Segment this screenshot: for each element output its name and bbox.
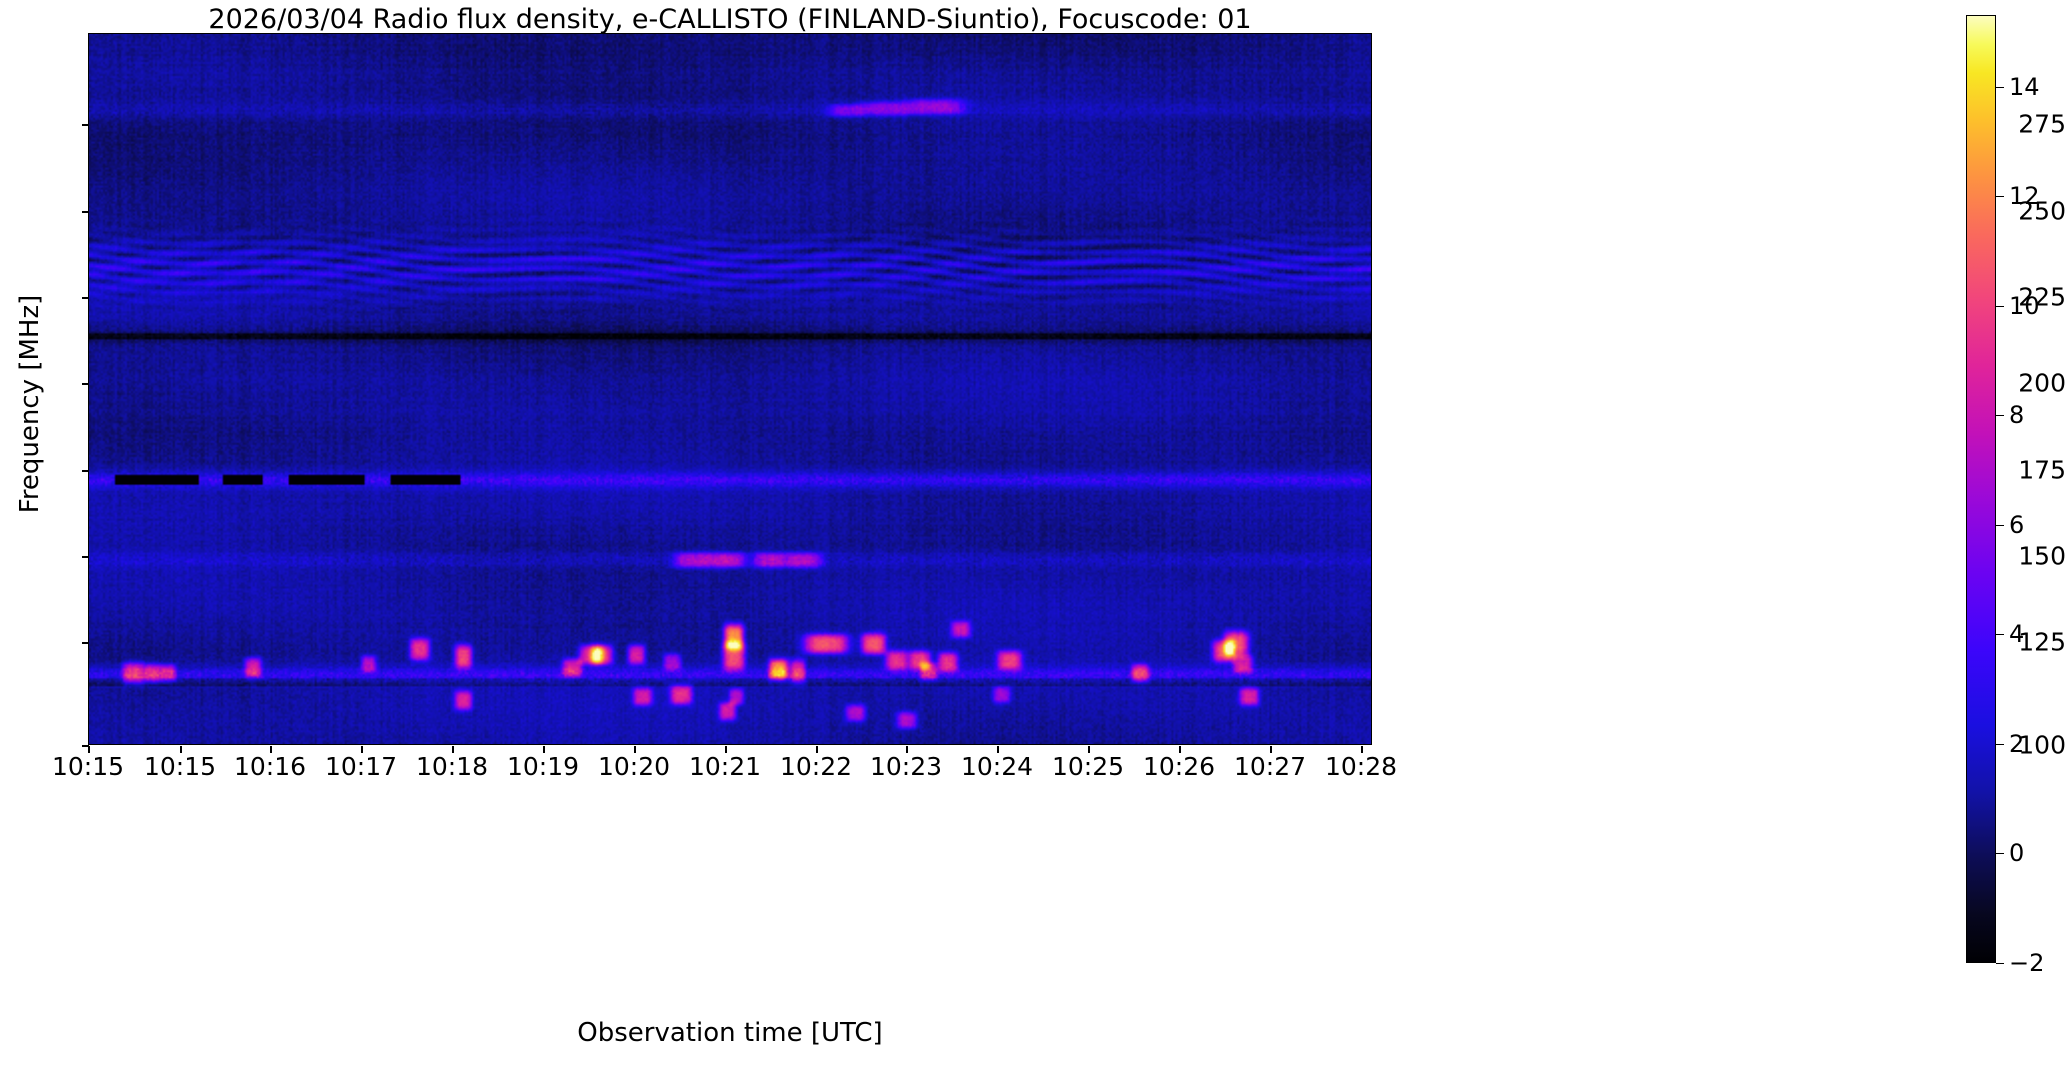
- x-axis-label: Observation time [UTC]: [88, 1018, 1372, 1048]
- spectrogram-image: [89, 34, 1371, 744]
- colorbar-tick-label: 4: [2009, 620, 2024, 648]
- y-tick-label: 175: [1994, 456, 2066, 485]
- colorbar-tick-label: 14: [2009, 73, 2040, 101]
- x-tick-mark: [180, 746, 182, 753]
- y-tick-mark: [82, 297, 89, 299]
- colorbar-tick-label: 12: [2009, 182, 2040, 210]
- x-tick-mark: [725, 746, 727, 753]
- x-tick-mark: [543, 746, 545, 753]
- x-tick-label: 10:16: [234, 752, 306, 781]
- y-tick-mark: [82, 642, 89, 644]
- y-tick-label: 125: [1994, 628, 2066, 657]
- y-tick-label: 275: [1994, 110, 2066, 139]
- x-tick-label: 10:15: [144, 752, 216, 781]
- colorbar-tick-mark: [1996, 306, 2004, 307]
- y-tick-label: 100: [1994, 731, 2066, 760]
- x-tick-label: 10:18: [416, 752, 488, 781]
- colorbar-tick-mark: [1996, 525, 2004, 526]
- y-tick-mark: [82, 211, 89, 213]
- x-tick-mark: [634, 746, 636, 753]
- colorbar-tick-mark: [1996, 634, 2004, 635]
- x-tick-label: 10:21: [689, 752, 761, 781]
- y-tick-mark: [82, 383, 89, 385]
- x-tick-mark: [906, 746, 908, 753]
- x-tick-mark: [1088, 746, 1090, 753]
- x-tick-label: 10:25: [1052, 752, 1124, 781]
- x-tick-mark: [1361, 746, 1363, 753]
- spectrogram-figure: 2026/03/04 Radio flux density, e-CALLIST…: [0, 0, 2066, 1067]
- colorbar-tick-mark: [1996, 415, 2004, 416]
- x-tick-label: 10:24: [961, 752, 1033, 781]
- x-tick-mark: [1270, 746, 1272, 753]
- colorbar-tick-mark: [1996, 744, 2004, 745]
- x-tick-mark: [1179, 746, 1181, 753]
- colorbar-tick-label: −2: [2009, 949, 2044, 977]
- x-tick-label: 10:28: [1325, 752, 1397, 781]
- x-tick-label: 10:15: [52, 752, 124, 781]
- colorbar-tick-label: 2: [2009, 730, 2024, 758]
- colorbar[interactable]: [1966, 15, 1996, 963]
- x-tick-label: 10:27: [1234, 752, 1306, 781]
- colorbar-tick-mark: [1996, 87, 2004, 88]
- x-tick-mark: [361, 746, 363, 753]
- colorbar-tick-label: 6: [2009, 511, 2024, 539]
- y-tick-label: 150: [1994, 542, 2066, 571]
- y-tick-mark: [82, 470, 89, 472]
- x-tick-label: 10:23: [870, 752, 942, 781]
- x-tick-label: 10:17: [325, 752, 397, 781]
- y-tick-mark: [82, 556, 89, 558]
- y-axis-label: Frequency [MHz]: [15, 214, 45, 594]
- x-tick-label: 10:19: [507, 752, 579, 781]
- x-tick-mark: [270, 746, 272, 753]
- spectrogram-plot[interactable]: [88, 33, 1372, 745]
- x-tick-mark: [997, 746, 999, 753]
- colorbar-tick-mark: [1996, 853, 2004, 854]
- y-tick-label: 200: [1994, 369, 2066, 398]
- x-tick-mark: [816, 746, 818, 753]
- x-tick-label: 10:26: [1143, 752, 1215, 781]
- colorbar-tick-mark: [1996, 196, 2004, 197]
- x-tick-mark: [452, 746, 454, 753]
- y-tick-mark: [82, 124, 89, 126]
- colorbar-tick-mark: [1996, 963, 2004, 964]
- x-tick-label: 10:22: [780, 752, 852, 781]
- colorbar-tick-label: 8: [2009, 401, 2024, 429]
- colorbar-tick-label: 0: [2009, 839, 2024, 867]
- page-title: 2026/03/04 Radio flux density, e-CALLIST…: [88, 4, 1372, 35]
- x-tick-label: 10:20: [598, 752, 670, 781]
- colorbar-tick-label: 10: [2009, 292, 2040, 320]
- x-tick-mark: [88, 746, 90, 753]
